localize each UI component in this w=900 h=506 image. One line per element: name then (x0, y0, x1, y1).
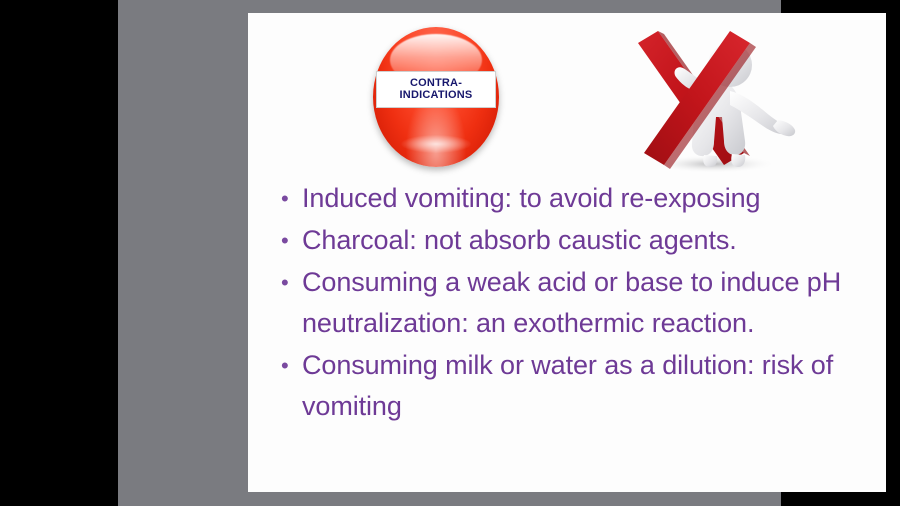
badge-label-line2: INDICATIONS (400, 90, 473, 101)
bullet-marker-icon: • (281, 262, 302, 303)
slide-viewer: CONTRA- INDICATIONS (0, 0, 900, 506)
list-item-text: Consuming a weak acid or base to induce … (302, 262, 881, 344)
bullet-marker-icon: • (281, 220, 302, 261)
slide-canvas: CONTRA- INDICATIONS (248, 13, 886, 492)
badge-label-band: CONTRA- INDICATIONS (376, 71, 496, 108)
bullet-marker-icon: • (281, 345, 302, 386)
list-item-text: Induced vomiting: to avoid re-exposing (302, 178, 881, 219)
red-x-with-figure-icon (618, 21, 798, 173)
list-item: • Charcoal: not absorb caustic agents. (281, 220, 881, 261)
list-item: • Induced vomiting: to avoid re-exposing (281, 178, 881, 219)
list-item-text: Consuming milk or water as a dilution: r… (302, 345, 881, 427)
badge-label-line1: CONTRA- (410, 78, 462, 89)
contra-indications-badge: CONTRA- INDICATIONS (373, 27, 499, 167)
slide-image-row: CONTRA- INDICATIONS (248, 13, 886, 178)
list-item-text: Charcoal: not absorb caustic agents. (302, 220, 881, 261)
badge-under-highlight-icon (401, 135, 471, 153)
list-item: • Consuming milk or water as a dilution:… (281, 345, 881, 427)
slide-frame: CONTRA- INDICATIONS (118, 0, 781, 506)
bullet-list: • Induced vomiting: to avoid re-exposing… (281, 178, 881, 428)
list-item: • Consuming a weak acid or base to induc… (281, 262, 881, 344)
bullet-marker-icon: • (281, 178, 302, 219)
